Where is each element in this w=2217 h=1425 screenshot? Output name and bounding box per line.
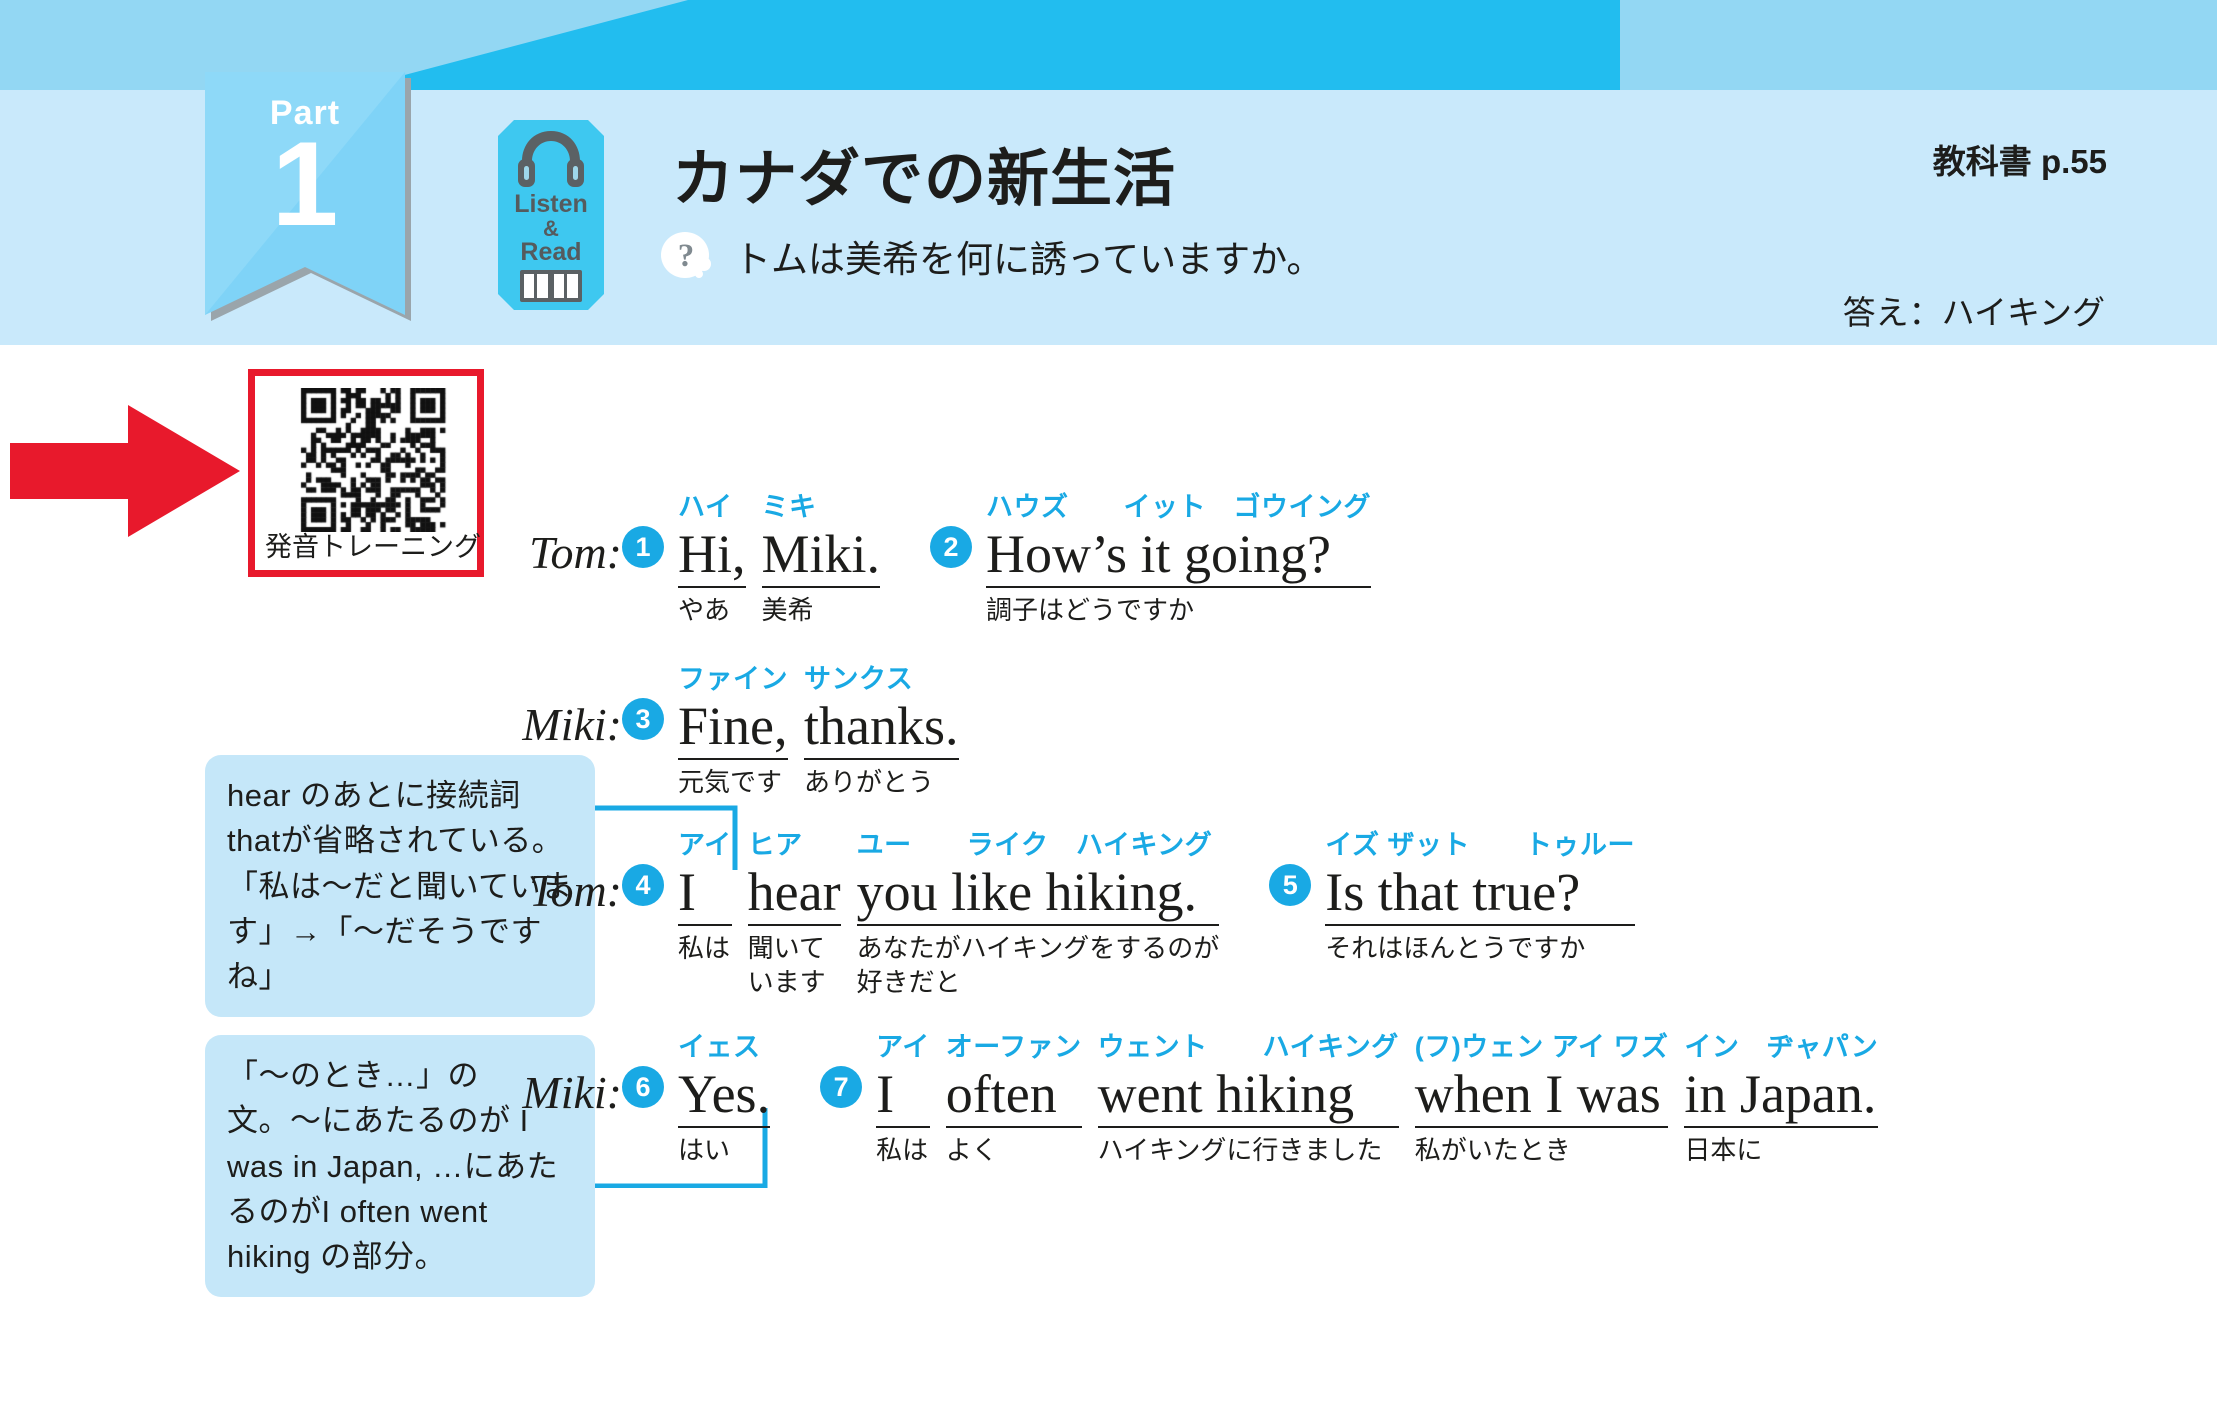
english-text: often <box>946 1064 1082 1128</box>
katakana-reading: アイ <box>876 1030 930 1064</box>
word-chunk: (フ)ウェン アイ ワズwhen I was私がいたとき <box>1415 1030 1669 1168</box>
sentence-chunks: ハイHi,やあミキMiki.美希 <box>678 490 896 628</box>
speaker-label: Tom: <box>490 490 622 579</box>
japanese-gloss: 私は <box>678 926 732 965</box>
sentence-number-badge: 6 <box>622 1066 664 1108</box>
katakana-reading: (フ)ウェン アイ ワズ <box>1415 1030 1669 1064</box>
dialogue-line: Miki:3ファインFine,元気ですサンクスthanks.ありがとう <box>490 662 975 800</box>
word-chunk: ユー ライク ハイキングyou like hiking.あなたがハイキングをする… <box>857 828 1220 999</box>
sentence-chunks: ハウズ イット ゴウイングHow’s it going?調子はどうですか <box>986 490 1387 628</box>
word-chunk: イズ ザット トゥルーIs that true?それはほんとうですか <box>1325 828 1635 966</box>
sentence-chunks: アイI私はヒアhear聞いて いますユー ライク ハイキングyou like h… <box>678 828 1235 999</box>
katakana-reading: ヒア <box>748 828 841 862</box>
english-text: hear <box>748 862 841 926</box>
english-text: thanks. <box>804 696 959 760</box>
japanese-gloss: あなたがハイキングをするのが 好きだと <box>857 926 1220 999</box>
word-chunk: ハウズ イット ゴウイングHow’s it going?調子はどうですか <box>986 490 1371 628</box>
japanese-gloss: 調子はどうですか <box>986 588 1371 627</box>
english-text: Fine, <box>678 696 788 760</box>
katakana-reading: イズ ザット トゥルー <box>1325 828 1635 862</box>
katakana-reading: オーファン <box>946 1030 1082 1064</box>
sentence-number-badge: 7 <box>820 1066 862 1108</box>
dialogue-sentence: 3ファインFine,元気ですサンクスthanks.ありがとう <box>622 662 975 800</box>
word-chunk: ファインFine,元気です <box>678 662 788 800</box>
dialogue-body: Tom:1ハイHi,やあミキMiki.美希2ハウズ イット ゴウイングHow’s… <box>0 0 2217 1425</box>
speaker-label: Miki: <box>490 662 622 751</box>
sentence-number-badge: 4 <box>622 864 664 906</box>
dialogue-sentence: 7アイI私はオーファンoftenよくウェント ハイキングwent hikingハ… <box>820 1030 1894 1168</box>
japanese-gloss: それはほんとうですか <box>1325 926 1635 965</box>
japanese-gloss: やあ <box>678 588 746 627</box>
english-text: went hiking <box>1098 1064 1399 1128</box>
word-chunk: アイI私は <box>678 828 732 966</box>
english-text: Is that true? <box>1325 862 1635 926</box>
katakana-reading: ハウズ イット ゴウイング <box>986 490 1371 524</box>
english-text: in Japan. <box>1684 1064 1878 1128</box>
katakana-reading: アイ <box>678 828 732 862</box>
dialogue-line: Miki:6イェスYes.はい7アイI私はオーファンoftenよくウェント ハイ… <box>490 1030 1894 1168</box>
dialogue-sentence: 5イズ ザット トゥルーIs that true?それはほんとうですか <box>1269 828 1651 966</box>
english-text: I <box>876 1064 930 1128</box>
word-chunk: ヒアhear聞いて います <box>748 828 841 999</box>
katakana-reading: イェス <box>678 1030 770 1064</box>
word-chunk: オーファンoftenよく <box>946 1030 1082 1168</box>
japanese-gloss: 私は <box>876 1128 930 1167</box>
japanese-gloss: 日本に <box>1684 1128 1878 1167</box>
english-text: Yes. <box>678 1064 770 1128</box>
sentence-chunks: ファインFine,元気ですサンクスthanks.ありがとう <box>678 662 975 800</box>
word-chunk: アイI私は <box>876 1030 930 1168</box>
sentence-number-badge: 1 <box>622 526 664 568</box>
japanese-gloss: はい <box>678 1128 770 1167</box>
katakana-reading: サンクス <box>804 662 959 696</box>
english-text: Miki. <box>762 524 881 588</box>
english-text: How’s it going? <box>986 524 1371 588</box>
dialogue-sentence: 6イェスYes.はい <box>622 1030 786 1168</box>
japanese-gloss: 元気です <box>678 760 788 799</box>
dialogue-sentence: 2ハウズ イット ゴウイングHow’s it going?調子はどうですか <box>930 490 1387 628</box>
speaker-label: Tom: <box>490 828 622 917</box>
dialogue-line: Tom:4アイI私はヒアhear聞いて いますユー ライク ハイキングyou l… <box>490 828 1651 999</box>
word-chunk: イン ヂャパンin Japan.日本に <box>1684 1030 1878 1168</box>
speaker-label: Miki: <box>490 1030 622 1119</box>
japanese-gloss: 聞いて います <box>748 926 841 999</box>
sentence-number-badge: 2 <box>930 526 972 568</box>
japanese-gloss: ハイキングに行きました <box>1098 1128 1399 1167</box>
dialogue-sentence: 4アイI私はヒアhear聞いて いますユー ライク ハイキングyou like … <box>622 828 1235 999</box>
dialogue-line: Tom:1ハイHi,やあミキMiki.美希2ハウズ イット ゴウイングHow’s… <box>490 490 1387 628</box>
japanese-gloss: 美希 <box>762 588 881 627</box>
english-text: you like hiking. <box>857 862 1220 926</box>
word-chunk: イェスYes.はい <box>678 1030 770 1168</box>
english-text: Hi, <box>678 524 746 588</box>
katakana-reading: イン ヂャパン <box>1684 1030 1878 1064</box>
katakana-reading: ファイン <box>678 662 788 696</box>
katakana-reading: ウェント ハイキング <box>1098 1030 1399 1064</box>
japanese-gloss: ありがとう <box>804 760 959 799</box>
sentence-number-badge: 3 <box>622 698 664 740</box>
katakana-reading: ユー ライク ハイキング <box>857 828 1220 862</box>
japanese-gloss: 私がいたとき <box>1415 1128 1669 1167</box>
word-chunk: サンクスthanks.ありがとう <box>804 662 959 800</box>
word-chunk: ミキMiki.美希 <box>762 490 881 628</box>
sentence-chunks: イズ ザット トゥルーIs that true?それはほんとうですか <box>1325 828 1651 966</box>
word-chunk: ウェント ハイキングwent hikingハイキングに行きました <box>1098 1030 1399 1168</box>
sentence-number-badge: 5 <box>1269 864 1311 906</box>
word-chunk: ハイHi,やあ <box>678 490 746 628</box>
english-text: when I was <box>1415 1064 1669 1128</box>
english-text: I <box>678 862 732 926</box>
sentence-chunks: イェスYes.はい <box>678 1030 786 1168</box>
katakana-reading: ハイ <box>678 490 746 524</box>
japanese-gloss: よく <box>946 1128 1082 1167</box>
dialogue-sentence: 1ハイHi,やあミキMiki.美希 <box>622 490 896 628</box>
sentence-chunks: アイI私はオーファンoftenよくウェント ハイキングwent hikingハイ… <box>876 1030 1894 1168</box>
katakana-reading: ミキ <box>762 490 881 524</box>
